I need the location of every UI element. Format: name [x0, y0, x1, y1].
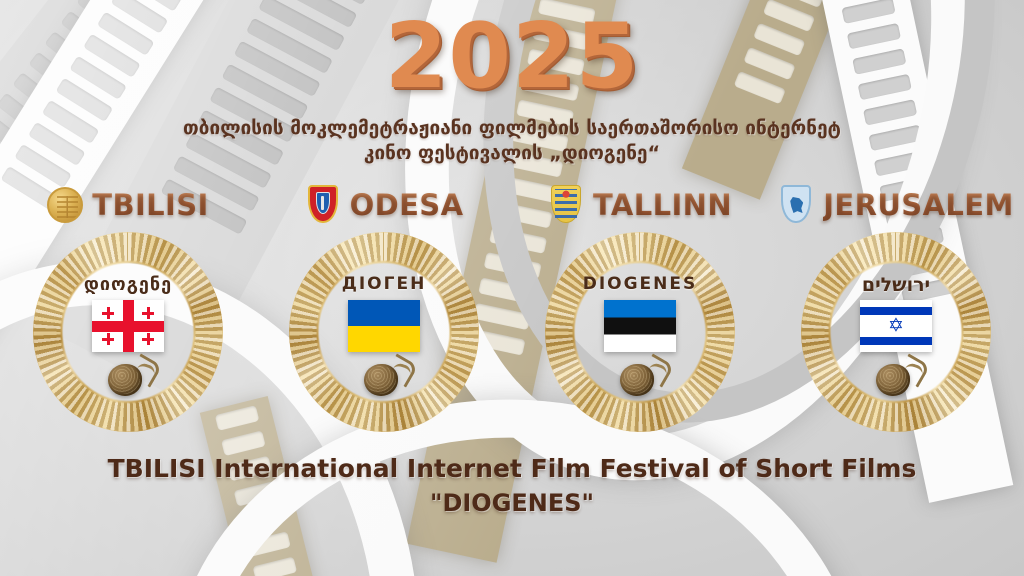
- footer-line-1: TBILISI International Internet Film Fest…: [0, 452, 1024, 486]
- medallion-label-estonia: DIOGENES: [512, 274, 768, 294]
- festival-poster: 2025 თბილისის მოკლემეტრაჟიანი ფილმების ს…: [0, 0, 1024, 576]
- estonia-flag-icon: [604, 300, 676, 352]
- georgia-flag-icon: [92, 300, 164, 352]
- headline-georgian: თბილისის მოკლემეტრაჟიანი ფილმების საერთა…: [0, 116, 1024, 166]
- jerusalem-coat-of-arms-icon: [778, 185, 814, 225]
- city-item-tbilisi: TBILISI: [0, 185, 256, 225]
- city-row: TBILISI ODESA TALLINN JERUSALEM: [0, 183, 1024, 227]
- odesa-coat-of-arms-icon: [305, 185, 341, 225]
- medallion-georgia: დიოგენე: [0, 232, 256, 438]
- medallion-ukraine: ДІОГЕН: [256, 232, 512, 438]
- medallion-label-israel: ירושלים: [768, 274, 1024, 296]
- headline-georgian-line-2: კინო ფესტივალის „დიოგენე“: [0, 141, 1024, 166]
- tbilisi-coat-of-arms-icon: [47, 185, 83, 225]
- medallion-row: დიოგენე ДІОГЕН: [0, 232, 1024, 438]
- headline-georgian-line-1: თბილისის მოკლემეტრაჟიანი ფილმების საერთა…: [0, 116, 1024, 141]
- israel-flag-icon: ✡: [860, 300, 932, 352]
- tallinn-coat-of-arms-icon: [548, 185, 584, 225]
- medallion-label-ukraine: ДІОГЕН: [256, 274, 512, 294]
- festival-year: 2025: [0, 4, 1024, 109]
- diogenes-lamp-icon: [876, 358, 928, 400]
- star-of-david-icon: ✡: [887, 317, 906, 336]
- city-label-tbilisi: TBILISI: [92, 188, 208, 222]
- city-label-odesa: ODESA: [350, 188, 464, 222]
- medallion-israel: ירושלים ✡: [768, 232, 1024, 438]
- diogenes-lamp-icon: [108, 358, 160, 400]
- city-item-jerusalem: JERUSALEM: [768, 185, 1024, 225]
- city-label-tallinn: TALLINN: [593, 188, 732, 222]
- footer-text: TBILISI International Internet Film Fest…: [0, 452, 1024, 520]
- diogenes-lamp-icon: [620, 358, 672, 400]
- medallion-estonia: DIOGENES: [512, 232, 768, 438]
- ukraine-flag-icon: [348, 300, 420, 352]
- diogenes-lamp-icon: [364, 358, 416, 400]
- city-item-odesa: ODESA: [256, 185, 512, 225]
- medallion-label-georgia: დიოგენე: [0, 274, 256, 295]
- city-item-tallinn: TALLINN: [512, 185, 768, 225]
- city-label-jerusalem: JERUSALEM: [823, 188, 1014, 222]
- footer-line-2: "DIOGENES": [0, 486, 1024, 520]
